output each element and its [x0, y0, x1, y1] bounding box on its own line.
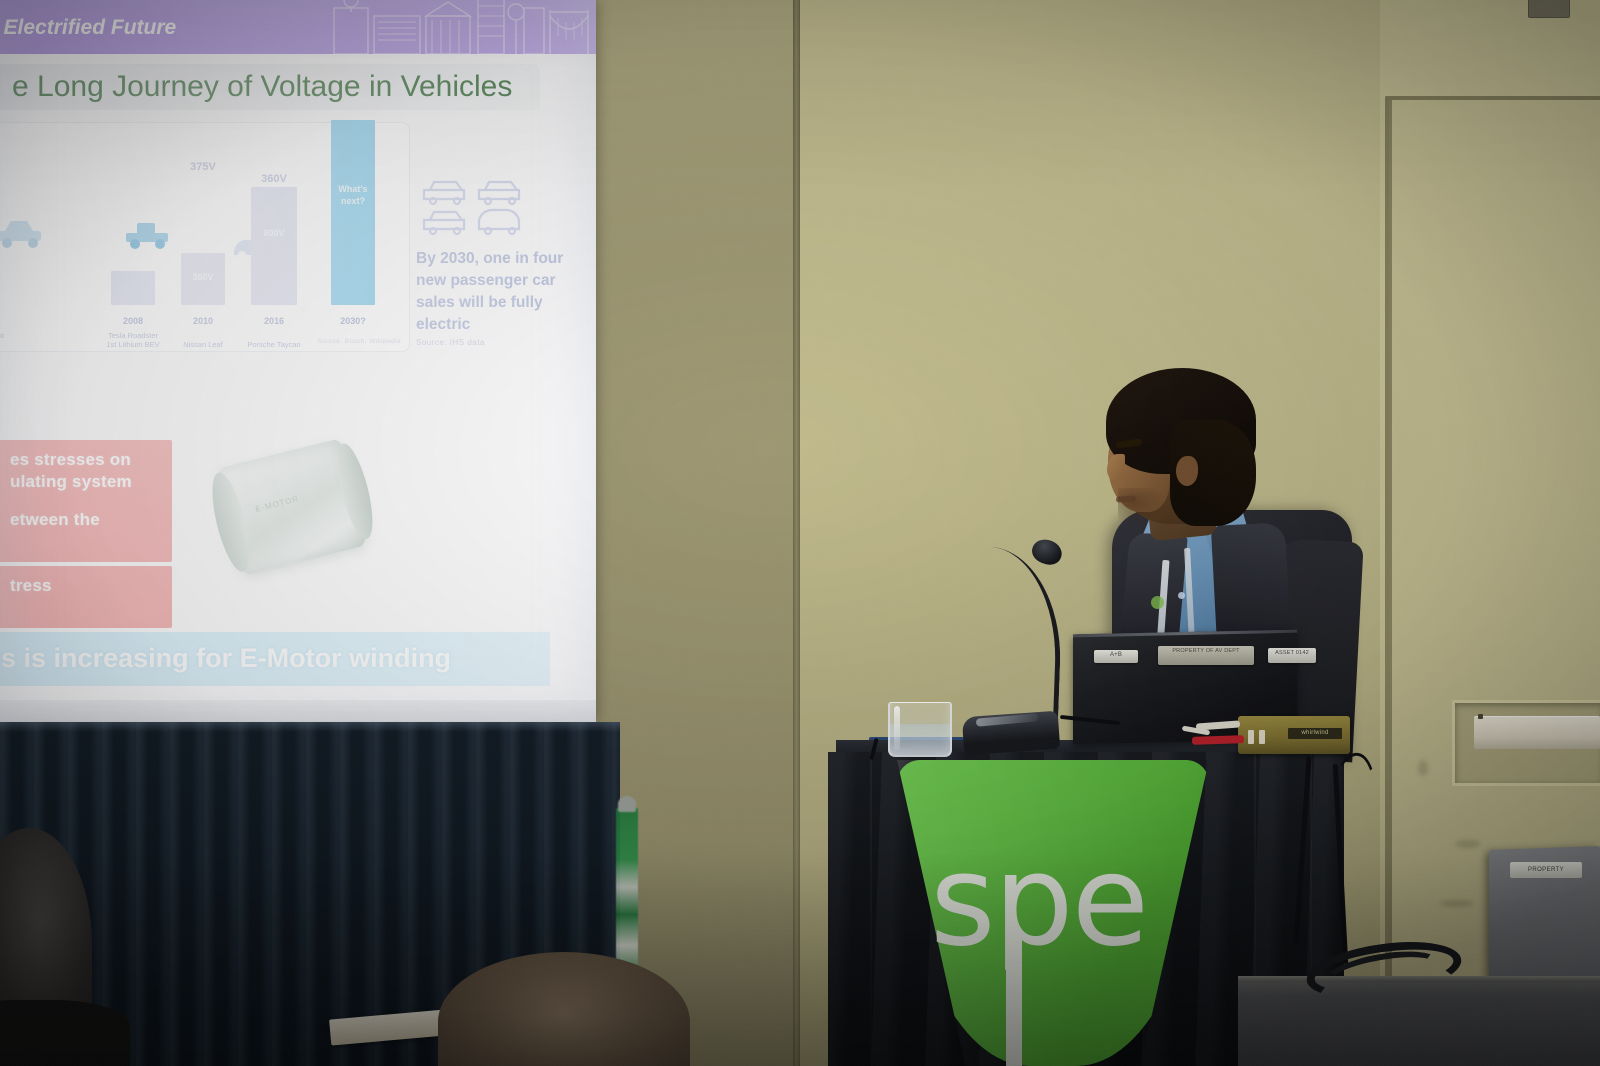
chart-bar-value-label: What's next? [331, 183, 375, 207]
slide-title: Transportation [0, 0, 158, 5]
spe-logo-stem [1006, 930, 1022, 1066]
chart-x-sublabel: Nissan Leaf [172, 340, 234, 349]
chart-bar-top-label: 375V [179, 161, 227, 173]
vintage-car-icon [0, 215, 49, 249]
motor-stator-image: E-MOTOR [211, 437, 373, 578]
slide-bottom-banner-text: es is increasing for E-Motor winding [0, 643, 451, 674]
slide-subtitle: ...arply to an Electrified Future [0, 16, 176, 40]
chart-x-sublabel: Porsche Taycan [243, 340, 305, 349]
curtain-top-highlight [0, 722, 620, 732]
ceiling-plate [1528, 0, 1570, 18]
slide-section-heading-text: e Long Journey of Voltage in Vehicles [12, 70, 512, 104]
presenter-badge [1151, 596, 1164, 609]
chart-x-tick: 2016 [243, 316, 305, 327]
slide-callout: tress [0, 566, 172, 628]
city-skyline-icon [326, 0, 596, 54]
projection-screen: Transportation ...arply to an Electrifie… [0, 0, 596, 722]
chart-bar: 800V [251, 187, 297, 305]
audience-shoulder [0, 1000, 130, 1066]
side-laptop-sticker: PROPERTY [1510, 862, 1582, 878]
chart-x-tick: 2010 [172, 316, 234, 327]
slide-section-heading: e Long Journey of Voltage in Vehicles [0, 64, 540, 110]
chart-bar-highlight: What's next? [331, 120, 375, 305]
chart-bar: 360V [181, 253, 225, 305]
slide-header-band: Transportation ...arply to an Electrifie… [0, 0, 596, 54]
laptop-sticker: PROPERTY OF AV DEPT [1158, 646, 1254, 665]
chart-x-tick: 1914 [0, 316, 11, 327]
presenter-ear [1176, 456, 1198, 486]
wall-scuff [1418, 760, 1428, 776]
chart-bar-top-label: 360V [249, 173, 299, 185]
skirt-fold [870, 752, 872, 1066]
laptop-sticker: ASSET 0142 [1268, 648, 1316, 663]
chart-source-note: Source: Bosch, Wikipedia [317, 338, 401, 345]
water-glass-highlight [894, 706, 900, 750]
wall-vent-heater [1474, 716, 1600, 749]
slide-callout: etween the [0, 500, 172, 562]
slide-bottom-banner: es is increasing for E-Motor winding [0, 632, 550, 686]
slide-stat-text: By 2030, one in four new passenger car s… [416, 248, 584, 336]
chart-x-tick: 2030? [322, 316, 384, 327]
green-wall-object-cap [618, 796, 636, 812]
chart-bar-value-label: 800V [251, 227, 297, 239]
audio-interface-label: whirlwind [1288, 728, 1342, 739]
shirt-button [1178, 592, 1185, 599]
laptop-sticker: A+B [1094, 650, 1138, 663]
wall-seam [793, 0, 800, 1066]
early-electric-car-icon [123, 217, 175, 251]
audio-knob[interactable] [1248, 730, 1254, 744]
chart-x-sublabel: Detroit Electric Brougham [0, 331, 11, 349]
spe-logo-text: spe [930, 838, 1147, 964]
slide-stat-source: Source: IHS data [416, 338, 485, 347]
presenter-chin-shadow [1118, 488, 1166, 524]
wall-scuff [1440, 900, 1474, 907]
door-shadow-line [1389, 100, 1392, 1066]
vent-bracket-icon [1478, 714, 1483, 719]
presenter-nose [1107, 454, 1125, 480]
chart-x-sublabel: Tesla Roadster 1st Lithium BEV [102, 331, 164, 349]
slide-chart-card: 360V 800V What's next? 375V 360V 1900 19… [0, 122, 410, 352]
audio-knob[interactable] [1259, 730, 1265, 744]
slide-callout: es stresses on ulating system [0, 440, 172, 502]
chart-bar [111, 271, 155, 305]
green-wall-object [616, 808, 638, 980]
side-table [1238, 976, 1600, 1066]
wall-scuff [1455, 840, 1481, 848]
chart-bar-value-label: 360V [181, 271, 225, 283]
conference-photo-scene: Transportation ...arply to an Electrifie… [0, 0, 1600, 1066]
chart-x-tick: 2008 [102, 316, 164, 327]
four-cars-icon [420, 168, 530, 238]
slide-bottom-strip [0, 700, 596, 722]
